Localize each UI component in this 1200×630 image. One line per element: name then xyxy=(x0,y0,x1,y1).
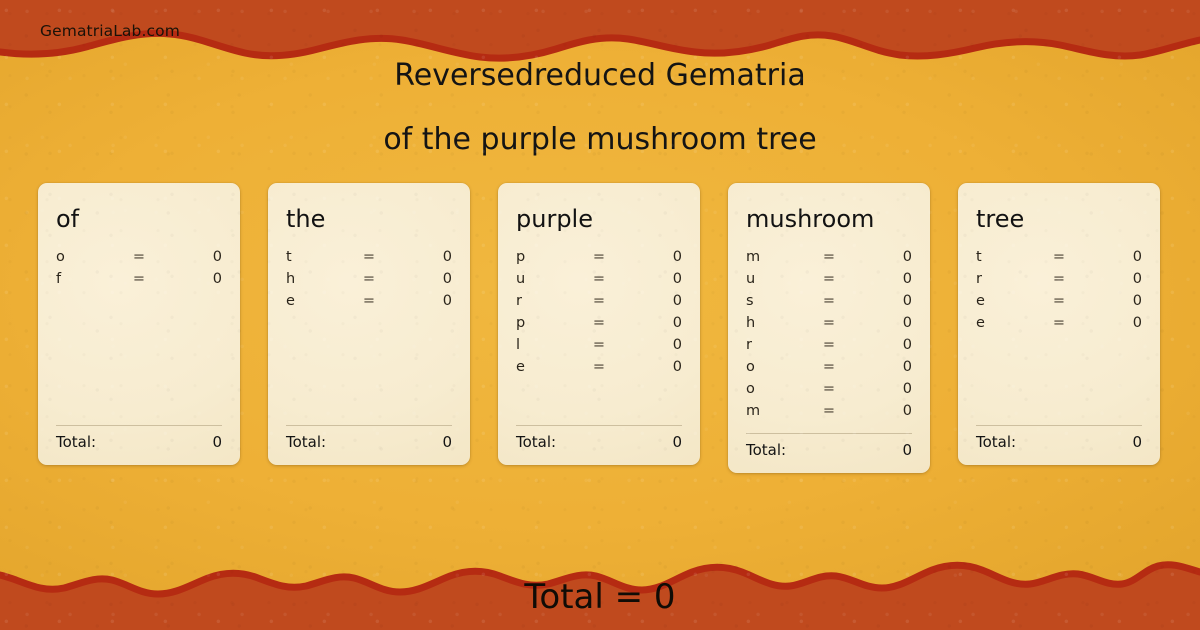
letter-row: o=0 xyxy=(56,249,222,271)
letter-label: f xyxy=(56,271,116,287)
equals-sign: = xyxy=(806,249,852,265)
letter-value: 0 xyxy=(852,359,912,375)
letter-row: e=0 xyxy=(976,315,1142,337)
card-divider xyxy=(56,425,222,426)
letter-value: 0 xyxy=(852,403,912,419)
word-card: ofo=0f=0Total:0 xyxy=(38,183,240,465)
card-total-value: 0 xyxy=(212,433,222,451)
letter-value: 0 xyxy=(1082,271,1142,287)
card-total-label: Total: xyxy=(516,433,672,451)
equals-sign: = xyxy=(116,271,162,287)
letter-rows: m=0u=0s=0h=0r=0o=0o=0m=0 xyxy=(746,249,912,425)
letter-value: 0 xyxy=(622,249,682,265)
letter-value: 0 xyxy=(852,315,912,331)
letter-value: 0 xyxy=(1082,315,1142,331)
word-card-title: tree xyxy=(976,207,1142,231)
equals-sign: = xyxy=(346,249,392,265)
grand-total: Total = 0 xyxy=(0,577,1200,617)
letter-value: 0 xyxy=(622,271,682,287)
letter-value: 0 xyxy=(1082,293,1142,309)
equals-sign: = xyxy=(576,271,622,287)
equals-sign: = xyxy=(1036,315,1082,331)
letter-label: e xyxy=(976,293,1036,309)
letter-label: h xyxy=(286,271,346,287)
equals-sign: = xyxy=(576,249,622,265)
letter-label: e xyxy=(976,315,1036,331)
letter-value: 0 xyxy=(392,271,452,287)
equals-sign: = xyxy=(806,381,852,397)
equals-sign: = xyxy=(806,359,852,375)
card-total-value: 0 xyxy=(672,433,682,451)
letter-row: r=0 xyxy=(746,337,912,359)
letter-label: p xyxy=(516,315,576,331)
letter-label: m xyxy=(746,403,806,419)
equals-sign: = xyxy=(116,249,162,265)
word-card-title: the xyxy=(286,207,452,231)
letter-label: t xyxy=(286,249,346,265)
page-title-line1: Reversedreduced Gematria xyxy=(0,58,1200,93)
letter-row: o=0 xyxy=(746,359,912,381)
equals-sign: = xyxy=(576,315,622,331)
card-total-label: Total: xyxy=(56,433,212,451)
word-card: purplep=0u=0r=0p=0l=0e=0Total:0 xyxy=(498,183,700,465)
letter-value: 0 xyxy=(622,293,682,309)
letter-row: e=0 xyxy=(516,359,682,381)
word-card: thet=0h=0e=0Total:0 xyxy=(268,183,470,465)
equals-sign: = xyxy=(1036,271,1082,287)
card-total-row: Total:0 xyxy=(976,433,1142,451)
letter-value: 0 xyxy=(162,271,222,287)
card-total-row: Total:0 xyxy=(746,441,912,459)
letter-label: r xyxy=(746,337,806,353)
letter-row: p=0 xyxy=(516,315,682,337)
letter-row: l=0 xyxy=(516,337,682,359)
word-card-title: purple xyxy=(516,207,682,231)
letter-row: r=0 xyxy=(976,271,1142,293)
letter-row: h=0 xyxy=(286,271,452,293)
equals-sign: = xyxy=(806,403,852,419)
letter-value: 0 xyxy=(622,315,682,331)
equals-sign: = xyxy=(346,271,392,287)
word-card-title: of xyxy=(56,207,222,231)
word-cards-row: ofo=0f=0Total:0thet=0h=0e=0Total:0purple… xyxy=(38,183,1160,473)
equals-sign: = xyxy=(806,315,852,331)
letter-label: u xyxy=(746,271,806,287)
letter-value: 0 xyxy=(622,337,682,353)
equals-sign: = xyxy=(576,359,622,375)
card-total-label: Total: xyxy=(976,433,1132,451)
letter-value: 0 xyxy=(852,337,912,353)
equals-sign: = xyxy=(576,337,622,353)
page-title-line2: of the purple mushroom tree xyxy=(0,122,1200,157)
letter-value: 0 xyxy=(1082,249,1142,265)
letter-row: t=0 xyxy=(976,249,1142,271)
word-card: treet=0r=0e=0e=0Total:0 xyxy=(958,183,1160,465)
letter-label: m xyxy=(746,249,806,265)
letter-row: s=0 xyxy=(746,293,912,315)
letter-label: o xyxy=(56,249,116,265)
letter-row: u=0 xyxy=(516,271,682,293)
equals-sign: = xyxy=(346,293,392,309)
letter-value: 0 xyxy=(852,271,912,287)
card-total-row: Total:0 xyxy=(286,433,452,451)
letter-row: t=0 xyxy=(286,249,452,271)
letter-row: f=0 xyxy=(56,271,222,293)
letter-label: e xyxy=(516,359,576,375)
letter-label: s xyxy=(746,293,806,309)
card-divider xyxy=(746,433,912,434)
letter-rows: t=0h=0e=0 xyxy=(286,249,452,417)
letter-value: 0 xyxy=(852,381,912,397)
letter-label: o xyxy=(746,381,806,397)
letter-row: m=0 xyxy=(746,249,912,271)
letter-label: o xyxy=(746,359,806,375)
letter-label: r xyxy=(516,293,576,309)
letter-row: p=0 xyxy=(516,249,682,271)
letter-value: 0 xyxy=(852,249,912,265)
letter-row: h=0 xyxy=(746,315,912,337)
letter-label: r xyxy=(976,271,1036,287)
card-total-value: 0 xyxy=(902,441,912,459)
letter-label: h xyxy=(746,315,806,331)
card-total-value: 0 xyxy=(442,433,452,451)
site-credit: GematriaLab.com xyxy=(40,22,180,40)
card-divider xyxy=(286,425,452,426)
letter-label: l xyxy=(516,337,576,353)
card-total-label: Total: xyxy=(286,433,442,451)
letter-value: 0 xyxy=(392,293,452,309)
card-total-row: Total:0 xyxy=(56,433,222,451)
letter-value: 0 xyxy=(622,359,682,375)
letter-row: m=0 xyxy=(746,403,912,425)
equals-sign: = xyxy=(806,337,852,353)
letter-rows: t=0r=0e=0e=0 xyxy=(976,249,1142,417)
letter-rows: p=0u=0r=0p=0l=0e=0 xyxy=(516,249,682,417)
equals-sign: = xyxy=(576,293,622,309)
word-card: mushroomm=0u=0s=0h=0r=0o=0o=0m=0Total:0 xyxy=(728,183,930,473)
equals-sign: = xyxy=(806,293,852,309)
card-total-value: 0 xyxy=(1132,433,1142,451)
letter-label: p xyxy=(516,249,576,265)
card-total-row: Total:0 xyxy=(516,433,682,451)
card-divider xyxy=(516,425,682,426)
letter-label: u xyxy=(516,271,576,287)
letter-value: 0 xyxy=(392,249,452,265)
equals-sign: = xyxy=(1036,293,1082,309)
card-divider xyxy=(976,425,1142,426)
letter-label: e xyxy=(286,293,346,309)
letter-row: u=0 xyxy=(746,271,912,293)
letter-row: e=0 xyxy=(286,293,452,315)
letter-value: 0 xyxy=(852,293,912,309)
letter-row: o=0 xyxy=(746,381,912,403)
letter-label: t xyxy=(976,249,1036,265)
letter-value: 0 xyxy=(162,249,222,265)
letter-row: r=0 xyxy=(516,293,682,315)
letter-rows: o=0f=0 xyxy=(56,249,222,417)
equals-sign: = xyxy=(806,271,852,287)
letter-row: e=0 xyxy=(976,293,1142,315)
card-total-label: Total: xyxy=(746,441,902,459)
equals-sign: = xyxy=(1036,249,1082,265)
word-card-title: mushroom xyxy=(746,207,912,231)
